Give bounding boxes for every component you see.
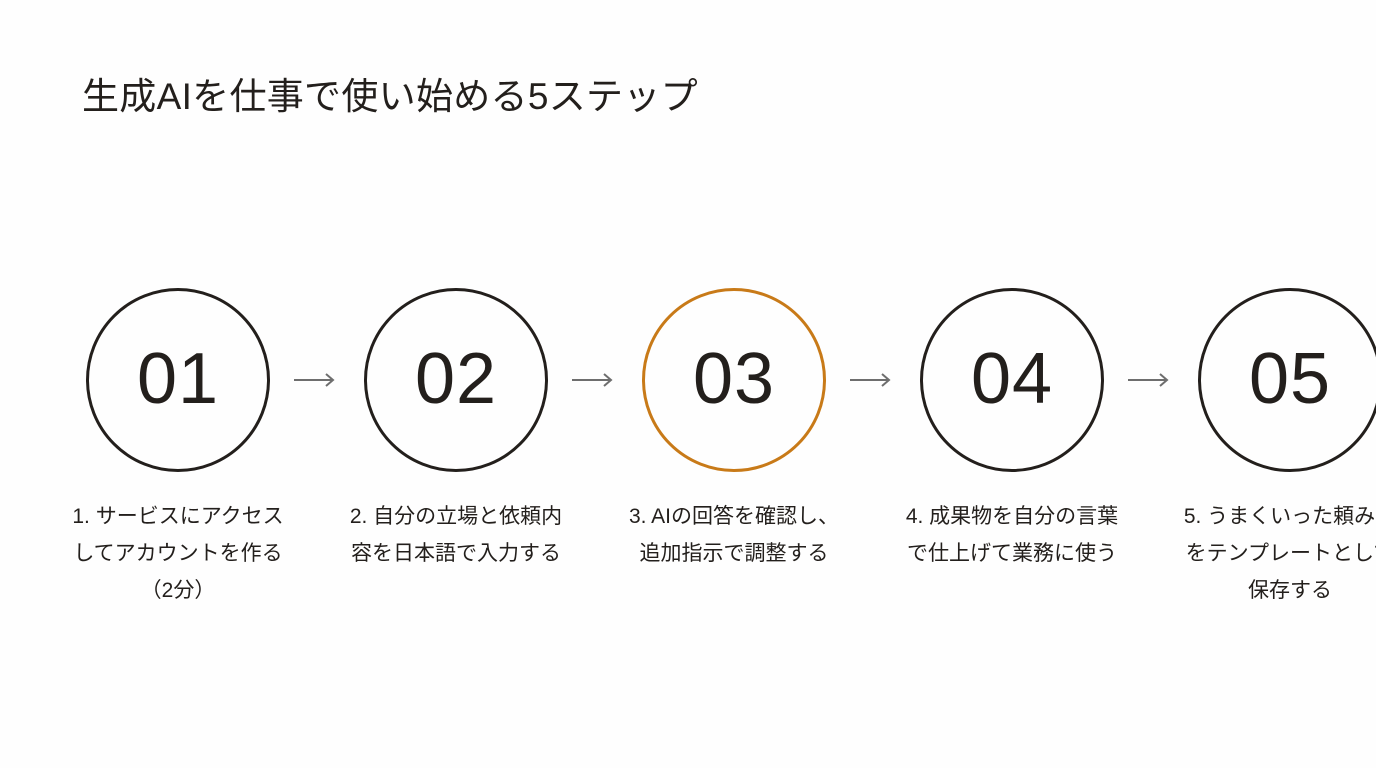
step-number-label: 05 [1249,343,1331,415]
connector-03-04 [850,288,896,472]
step-number-label: 01 [137,343,219,415]
step-caption-02: 2. 自分の立場と依頼内容を日本語で入力する [343,498,569,572]
steps-flow: 01 1. サービスにアクセスしてアカウントを作る（2分） 02 2. 自分の立… [62,288,1314,609]
step-number-label: 03 [693,343,775,415]
page-title: 生成AIを仕事で使い始める5ステップ [82,74,698,120]
step-caption-01: 1. サービスにアクセスしてアカウントを作る（2分） [65,498,291,609]
step-caption-03: 3. AIの回答を確認し、追加指示で調整する [621,498,847,572]
step-circle-01[interactable]: 01 [86,288,270,472]
step-number-label: 04 [971,343,1053,415]
step-caption-05: 5. うまくいった頼み方をテンプレートとして保存する [1177,498,1376,609]
arrow-right-icon [572,373,618,387]
connector-02-03 [572,288,618,472]
step-caption-04: 4. 成果物を自分の言葉で仕上げて業務に使う [899,498,1125,572]
step-item-02[interactable]: 02 2. 自分の立場と依頼内容を日本語で入力する [340,288,572,572]
slide-canvas: 生成AIを仕事で使い始める5ステップ 01 1. サービスにアクセスしてアカウン… [0,0,1376,768]
step-number-label: 02 [415,343,497,415]
arrow-right-icon [850,373,896,387]
step-item-05[interactable]: 05 5. うまくいった頼み方をテンプレートとして保存する [1174,288,1376,609]
connector-04-05 [1128,288,1174,472]
step-item-01[interactable]: 01 1. サービスにアクセスしてアカウントを作る（2分） [62,288,294,609]
connector-01-02 [294,288,340,472]
step-item-03[interactable]: 03 3. AIの回答を確認し、追加指示で調整する [618,288,850,572]
step-item-04[interactable]: 04 4. 成果物を自分の言葉で仕上げて業務に使う [896,288,1128,572]
arrow-right-icon [294,373,340,387]
step-circle-04[interactable]: 04 [920,288,1104,472]
step-circle-02[interactable]: 02 [364,288,548,472]
arrow-right-icon [1128,373,1174,387]
step-circle-03[interactable]: 03 [642,288,826,472]
step-circle-05[interactable]: 05 [1198,288,1376,472]
